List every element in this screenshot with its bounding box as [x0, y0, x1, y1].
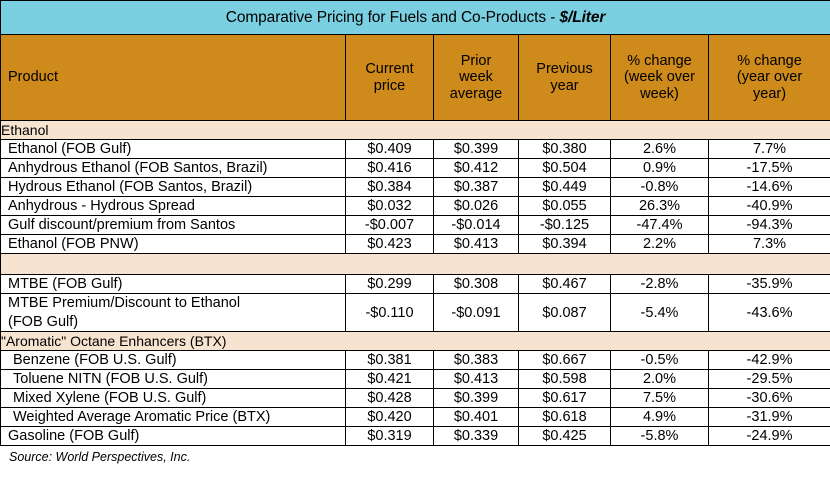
product-name: Mixed Xylene (FOB U.S. Gulf): [1, 389, 346, 408]
prior-week-value: $0.413: [434, 235, 519, 254]
column-header-prior-week-line3: average: [450, 86, 502, 102]
section-heading-ethanol: Ethanol: [1, 121, 830, 140]
current-price-value: $0.299: [346, 275, 434, 294]
table-title-row: Comparative Pricing for Fuels and Co-Pro…: [1, 1, 830, 35]
pct-change-year-value: -31.9%: [709, 408, 830, 427]
pct-change-week-value: 2.6%: [611, 140, 709, 159]
previous-year-value: $0.667: [519, 351, 611, 370]
previous-year-value: $0.449: [519, 178, 611, 197]
prior-week-value: $0.399: [434, 389, 519, 408]
pct-change-year-value: -17.5%: [709, 159, 830, 178]
table-row: Gulf discount/premium from Santos -$0.00…: [1, 216, 830, 235]
column-header-product: Product: [1, 35, 346, 121]
current-price-value: $0.416: [346, 159, 434, 178]
column-header-prior-week-line1: Prior: [461, 53, 492, 69]
title-main-text: Comparative Pricing for Fuels and Co-Pro…: [226, 9, 560, 26]
column-header-pct-week-line2: (week over: [624, 69, 695, 85]
current-price-value: $0.428: [346, 389, 434, 408]
current-price-value: $0.409: [346, 140, 434, 159]
column-header-pct-change-year: % change(year overyear): [709, 35, 830, 121]
prior-week-value: $0.412: [434, 159, 519, 178]
table-row: MTBE (FOB Gulf) $0.299 $0.308 $0.467 -2.…: [1, 275, 830, 294]
column-header-row: Product Currentprice Priorweekaverage Pr…: [1, 35, 830, 121]
prior-week-value: $0.413: [434, 370, 519, 389]
pct-change-year-value: 7.7%: [709, 140, 830, 159]
product-name: Ethanol (FOB Gulf): [1, 140, 346, 159]
pct-change-year-value: -94.3%: [709, 216, 830, 235]
source-note: Source: World Perspectives, Inc.: [0, 450, 830, 464]
pct-change-week-value: 7.5%: [611, 389, 709, 408]
pricing-table-page: Comparative Pricing for Fuels and Co-Pro…: [0, 0, 830, 494]
pct-change-week-value: 4.9%: [611, 408, 709, 427]
current-price-value: -$0.110: [346, 294, 434, 332]
current-price-value: $0.381: [346, 351, 434, 370]
previous-year-value: $0.467: [519, 275, 611, 294]
product-name: Anhydrous - Hydrous Spread: [1, 197, 346, 216]
current-price-value: $0.384: [346, 178, 434, 197]
prior-week-value: $0.026: [434, 197, 519, 216]
pct-change-week-value: -0.5%: [611, 351, 709, 370]
table-row: Benzene (FOB U.S. Gulf) $0.381 $0.383 $0…: [1, 351, 830, 370]
title-unit-text: $/Liter: [559, 9, 605, 26]
prior-week-value: $0.399: [434, 140, 519, 159]
pct-change-year-value: -14.6%: [709, 178, 830, 197]
table-row: Mixed Xylene (FOB U.S. Gulf) $0.428 $0.3…: [1, 389, 830, 408]
column-header-pct-week-line1: % change: [627, 53, 692, 69]
section-spacer-cell: [1, 254, 830, 275]
table-row: Anhydrous Ethanol (FOB Santos, Brazil) $…: [1, 159, 830, 178]
column-header-current-price: Currentprice: [346, 35, 434, 121]
prior-week-value: -$0.091: [434, 294, 519, 332]
previous-year-value: $0.394: [519, 235, 611, 254]
section-header-row: "Aromatic" Octane Enhancers (BTX): [1, 332, 830, 351]
table-row: Weighted Average Aromatic Price (BTX) $0…: [1, 408, 830, 427]
pct-change-week-value: 0.9%: [611, 159, 709, 178]
column-header-product-label: Product: [8, 69, 58, 85]
current-price-value: $0.420: [346, 408, 434, 427]
product-name: Ethanol (FOB PNW): [1, 235, 346, 254]
column-header-current-price-line1: Current: [365, 61, 413, 77]
product-name: Hydrous Ethanol (FOB Santos, Brazil): [1, 178, 346, 197]
section-header-row: Ethanol: [1, 121, 830, 140]
current-price-value: -$0.007: [346, 216, 434, 235]
table-body: Comparative Pricing for Fuels and Co-Pro…: [1, 1, 830, 446]
pct-change-year-value: -42.9%: [709, 351, 830, 370]
pct-change-week-value: -5.4%: [611, 294, 709, 332]
previous-year-value: $0.618: [519, 408, 611, 427]
column-header-pct-year-line1: % change: [737, 53, 802, 69]
product-name: Weighted Average Aromatic Price (BTX): [1, 408, 346, 427]
page-title: Comparative Pricing for Fuels and Co-Pro…: [1, 1, 830, 35]
previous-year-value: $0.087: [519, 294, 611, 332]
column-header-pct-year-line2: (year over: [737, 69, 802, 85]
previous-year-value: -$0.125: [519, 216, 611, 235]
pct-change-week-value: 2.2%: [611, 235, 709, 254]
product-name: Anhydrous Ethanol (FOB Santos, Brazil): [1, 159, 346, 178]
pct-change-week-value: -0.8%: [611, 178, 709, 197]
product-name-line2: (FOB Gulf): [8, 314, 78, 330]
pct-change-week-value: -2.8%: [611, 275, 709, 294]
pct-change-year-value: -29.5%: [709, 370, 830, 389]
previous-year-value: $0.380: [519, 140, 611, 159]
product-name: MTBE (FOB Gulf): [1, 275, 346, 294]
previous-year-value: $0.617: [519, 389, 611, 408]
column-header-pct-year-line3: year): [753, 86, 786, 102]
column-header-previous-year-line1: Previous: [536, 61, 592, 77]
column-header-pct-change-week: % change(week overweek): [611, 35, 709, 121]
current-price-value: $0.421: [346, 370, 434, 389]
section-heading-btx: "Aromatic" Octane Enhancers (BTX): [1, 332, 830, 351]
pct-change-week-value: -5.8%: [611, 427, 709, 446]
current-price-value: $0.423: [346, 235, 434, 254]
table-row: MTBE Premium/Discount to Ethanol(FOB Gul…: [1, 294, 830, 332]
previous-year-value: $0.598: [519, 370, 611, 389]
previous-year-value: $0.425: [519, 427, 611, 446]
table-row: Anhydrous - Hydrous Spread $0.032 $0.026…: [1, 197, 830, 216]
current-price-value: $0.032: [346, 197, 434, 216]
pct-change-year-value: 7.3%: [709, 235, 830, 254]
pct-change-year-value: -40.9%: [709, 197, 830, 216]
product-name: Benzene (FOB U.S. Gulf): [1, 351, 346, 370]
previous-year-value: $0.055: [519, 197, 611, 216]
product-name-line1: MTBE Premium/Discount to Ethanol: [8, 295, 240, 311]
table-row: Gasoline (FOB Gulf) $0.319 $0.339 $0.425…: [1, 427, 830, 446]
pct-change-week-value: -47.4%: [611, 216, 709, 235]
table-row: Hydrous Ethanol (FOB Santos, Brazil) $0.…: [1, 178, 830, 197]
prior-week-value: $0.387: [434, 178, 519, 197]
column-header-previous-year-line2: year: [550, 78, 578, 94]
pct-change-year-value: -35.9%: [709, 275, 830, 294]
prior-week-value: $0.308: [434, 275, 519, 294]
comparative-pricing-table: Comparative Pricing for Fuels and Co-Pro…: [0, 0, 830, 446]
pct-change-year-value: -43.6%: [709, 294, 830, 332]
prior-week-value: $0.383: [434, 351, 519, 370]
pct-change-week-value: 26.3%: [611, 197, 709, 216]
pct-change-week-value: 2.0%: [611, 370, 709, 389]
product-name: MTBE Premium/Discount to Ethanol(FOB Gul…: [1, 294, 346, 332]
table-row: Toluene NITN (FOB U.S. Gulf) $0.421 $0.4…: [1, 370, 830, 389]
pct-change-year-value: -24.9%: [709, 427, 830, 446]
prior-week-value: $0.339: [434, 427, 519, 446]
product-name: Toluene NITN (FOB U.S. Gulf): [1, 370, 346, 389]
column-header-prior-week-average: Priorweekaverage: [434, 35, 519, 121]
column-header-previous-year: Previousyear: [519, 35, 611, 121]
previous-year-value: $0.504: [519, 159, 611, 178]
prior-week-value: -$0.014: [434, 216, 519, 235]
column-header-pct-week-line3: week): [640, 86, 679, 102]
column-header-current-price-line2: price: [374, 78, 405, 94]
product-name: Gulf discount/premium from Santos: [1, 216, 346, 235]
column-header-prior-week-line2: week: [459, 69, 493, 85]
pct-change-year-value: -30.6%: [709, 389, 830, 408]
section-spacer-row: [1, 254, 830, 275]
table-row: Ethanol (FOB PNW) $0.423 $0.413 $0.394 2…: [1, 235, 830, 254]
current-price-value: $0.319: [346, 427, 434, 446]
table-row: Ethanol (FOB Gulf) $0.409 $0.399 $0.380 …: [1, 140, 830, 159]
prior-week-value: $0.401: [434, 408, 519, 427]
product-name: Gasoline (FOB Gulf): [1, 427, 346, 446]
